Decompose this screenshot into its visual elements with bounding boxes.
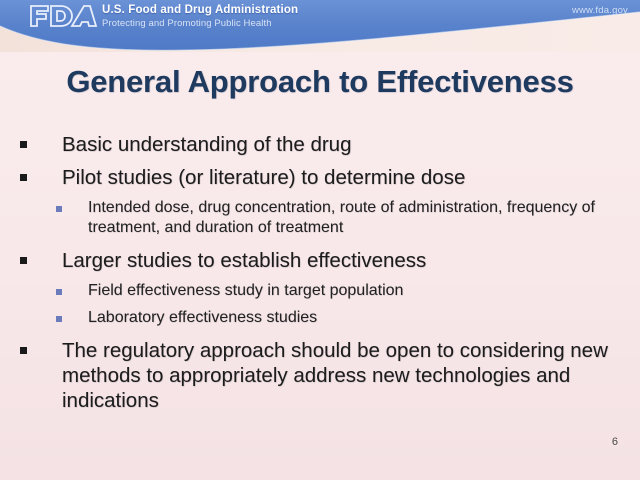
- page-number: 6: [612, 436, 618, 448]
- bullet-text: Basic understanding of the drug: [62, 132, 616, 157]
- spacer: [0, 329, 640, 338]
- bullet-square-icon: [20, 141, 27, 148]
- agency-name: U.S. Food and Drug Administration: [102, 4, 298, 16]
- bullet-square-icon: [20, 174, 27, 181]
- bullet-text: Pilot studies (or literature) to determi…: [62, 165, 616, 190]
- bullet-text: The regulatory approach should be open t…: [62, 338, 616, 413]
- bullet-item: Field effectiveness study in target popu…: [0, 281, 640, 301]
- bullet-text: Larger studies to establish effectivenes…: [62, 248, 616, 273]
- bullet-item: Basic understanding of the drug: [0, 132, 640, 157]
- slide-body: Basic understanding of the drug Pilot st…: [0, 132, 640, 415]
- bullet-text: Intended dose, drug concentration, route…: [88, 198, 600, 238]
- sub-bullet-square-icon: [56, 206, 62, 212]
- bullet-item: The regulatory approach should be open t…: [0, 338, 640, 413]
- spacer: [0, 239, 640, 248]
- fda-logo-icon: [28, 3, 98, 29]
- agency-tagline: Protecting and Promoting Public Health: [102, 18, 272, 29]
- bullet-text: Laboratory effectiveness studies: [88, 308, 600, 328]
- bullet-item: Laboratory effectiveness studies: [0, 308, 640, 328]
- slide-canvas: U.S. Food and Drug Administration Protec…: [0, 0, 640, 480]
- sub-bullet-square-icon: [56, 289, 62, 295]
- bullet-item: Pilot studies (or literature) to determi…: [0, 165, 640, 190]
- slide-header-banner: U.S. Food and Drug Administration Protec…: [0, 0, 640, 52]
- bullet-square-icon: [20, 257, 27, 264]
- fda-website-url: www.fda.gov: [572, 5, 628, 16]
- bullet-text: Field effectiveness study in target popu…: [88, 281, 600, 301]
- bullet-square-icon: [20, 347, 27, 354]
- slide-title: General Approach to Effectiveness: [0, 64, 640, 100]
- bullet-item: Larger studies to establish effectivenes…: [0, 248, 640, 273]
- bullet-item: Intended dose, drug concentration, route…: [0, 198, 640, 238]
- sub-bullet-square-icon: [56, 316, 62, 322]
